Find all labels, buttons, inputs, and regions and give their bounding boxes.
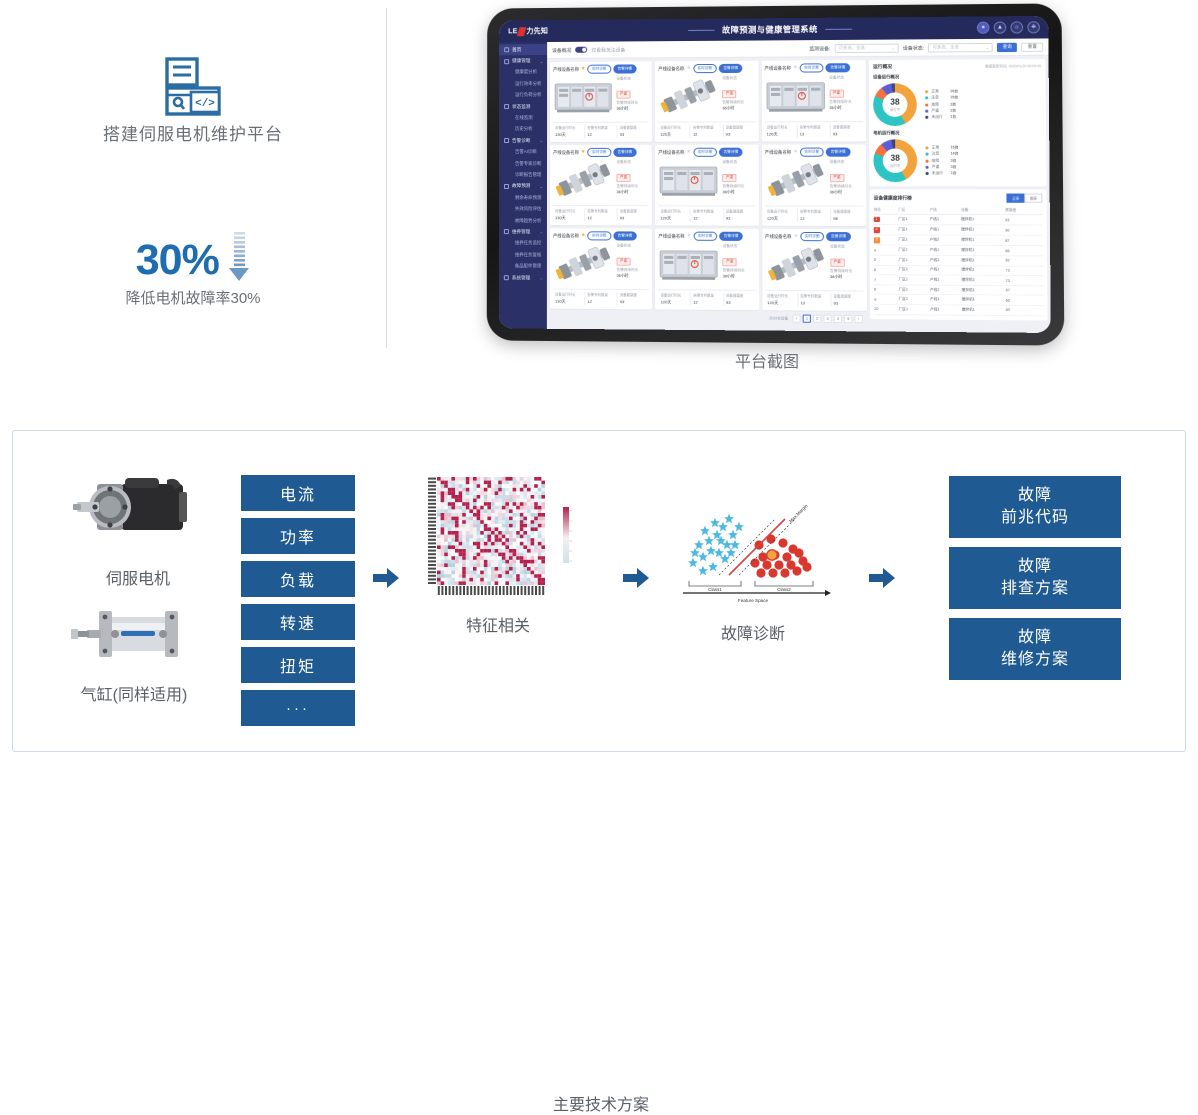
result-box-1[interactable]: 故障排查方案 <box>949 547 1121 609</box>
cell-line: 产线2 <box>930 235 962 245</box>
sidebar-item-label: 失效风险评估 <box>515 206 541 212</box>
sidebar-item-label: 剩余寿命预测 <box>515 195 541 201</box>
cell-score: 66 <box>1006 295 1043 305</box>
sidebar-item-17[interactable]: 维养任务监控 <box>499 238 547 250</box>
health-value: 93 <box>620 131 649 136</box>
legend-row-4: 未运行1台 <box>925 114 1041 119</box>
status-badge: 严重 <box>830 173 845 181</box>
sidebar-item-label: 首页 <box>512 47 521 53</box>
table-row[interactable]: 10厂区1产线1搅拌机160 <box>874 304 1043 315</box>
legend-value: 14台 <box>950 152 958 157</box>
card-body: 设备状态严重告警持续时长36小时 <box>553 242 649 287</box>
ranking-header: 设备健康度排行榜 正序 倒序 <box>874 193 1043 202</box>
star-icon[interactable]: ★ <box>794 234 799 239</box>
runtime-cell: 设备运行时长120天 <box>658 292 691 305</box>
runtime-cell: 设备运行时长120天 <box>765 293 798 306</box>
alarm-duration-label: 告警持续时长 <box>830 184 864 189</box>
cell-device: 搅拌机1 <box>961 215 1005 225</box>
device-card[interactable]: 产线设备名称★实时诊断告警详情设备状态严重告警持续时长36小时设备运行时长130… <box>550 145 652 226</box>
realtime-diagnose-button[interactable]: 实时诊断 <box>800 148 824 157</box>
sidebar-item-20[interactable]: 系统管理⌄ <box>499 272 547 284</box>
health-cell: 设备健康度93 <box>724 124 756 137</box>
parameter-box-1[interactable]: 功率 <box>241 518 355 554</box>
device-name: 产线设备名称 <box>765 233 792 239</box>
runtime-cell: 设备运行时长130天 <box>553 208 585 221</box>
health-cell: 设备健康度93 <box>831 293 863 306</box>
cell-area: 厂区1 <box>898 225 929 235</box>
cell-rank: 2 <box>874 225 899 235</box>
legend-label: 注意 <box>932 152 951 157</box>
diagnosis-caption: 故障诊断 <box>673 620 833 644</box>
cell-device: 搅拌机1 <box>962 295 1006 305</box>
query-button[interactable]: 查询 <box>997 42 1017 51</box>
sort-order-segmented[interactable]: 正序 倒序 <box>1007 194 1042 203</box>
cell-rank: 6 <box>874 265 899 275</box>
cell-device: 搅拌机1 <box>962 305 1006 315</box>
column-header-4: 健康度 <box>1005 206 1042 215</box>
result-line2: 维修方案 <box>1001 649 1069 671</box>
header-icon-group: ● ▲ ☼ ⎈ <box>977 21 1040 34</box>
cell-rank: 10 <box>874 304 899 314</box>
legend-dot <box>925 97 928 100</box>
status-badge: 严重 <box>616 257 630 265</box>
svm-classification-chart: Max.Margin Class1 Class2 Feature Space <box>673 501 833 609</box>
sidebar-item-label: 告警AI诊断 <box>515 149 537 155</box>
alarm-detail-button[interactable]: 告警详情 <box>826 148 850 157</box>
realtime-diagnose-button[interactable]: 实时诊断 <box>693 148 717 157</box>
legend-value: 15台 <box>950 146 958 151</box>
home-icon[interactable]: ▲ <box>994 21 1007 33</box>
cell-score: 90 <box>1005 225 1042 236</box>
cell-device: 搅拌机1 <box>961 225 1005 236</box>
legend-label: 正常 <box>931 89 950 94</box>
donut-chart: 38运行中 <box>873 83 917 126</box>
device-image <box>764 74 826 117</box>
sidebar-item-9[interactable]: 告警AI诊断 <box>499 146 547 157</box>
reset-button[interactable]: 重置 <box>1021 42 1043 51</box>
sidebar-item-4[interactable]: 运行负荷分析 <box>499 89 547 101</box>
user-icon[interactable]: ● <box>977 22 990 34</box>
chevron-down-icon: ⌄ <box>540 275 543 280</box>
device-status-block: 设备状态严重告警持续时长36小时 <box>719 159 755 204</box>
legend-label: 未运行 <box>931 114 950 119</box>
alarm-detail-button[interactable]: 告警详情 <box>826 63 850 72</box>
alarm-detail-button[interactable]: 告警详情 <box>613 231 637 240</box>
health-label: 设备健康度 <box>726 293 756 298</box>
device-status-select[interactable]: 可多选、全选 ⌄ <box>928 42 993 52</box>
device-card[interactable]: 产线设备名称★实时诊断告警详情设备状态严重告警持续时长36小时设备运行时长120… <box>762 144 867 226</box>
sidebar-item-label: 健康度分析 <box>515 69 537 75</box>
card-footer: 设备运行时长130天告警专利数量12设备健康度93 <box>553 122 649 138</box>
card-footer: 设备运行时长120天告警专利数量12设备健康度98 <box>765 205 863 221</box>
runtime-label: 设备运行时长 <box>767 124 797 129</box>
device-card[interactable]: 产线设备名称★实时诊断告警详情设备状态严重告警持续时长36小时设备运行时长120… <box>655 145 759 226</box>
watch-only-toggle[interactable] <box>575 47 587 53</box>
legend-row-1: 注意14台 <box>925 152 1042 157</box>
donut-legend: 正常15台注意14台故障3台严重3台未运行1台 <box>917 144 1042 176</box>
pagination-page-3[interactable]: 3 <box>823 315 831 323</box>
alarm-detail-button[interactable]: 告警详情 <box>826 232 850 241</box>
legend-value: 3台 <box>951 164 957 169</box>
sidebar-item-11[interactable]: 诊断报告管理 <box>499 169 547 180</box>
tech-solution-caption: 主要技术方案 <box>553 1091 649 1115</box>
alarm-duration-label: 告警持续时长 <box>829 100 862 105</box>
star-icon[interactable]: ★ <box>581 233 586 238</box>
sidebar-item-13[interactable]: 剩余寿命预测 <box>499 192 547 203</box>
table-row[interactable]: 1厂区1产线1搅拌机193 <box>874 215 1043 226</box>
alarm-detail-button[interactable]: 告警详情 <box>613 148 637 157</box>
alarm-detail-button[interactable]: 告警详情 <box>719 148 743 157</box>
health-value: 93 <box>833 131 863 136</box>
title-rule-right <box>825 28 852 29</box>
health-cell: 设备健康度93 <box>618 125 649 138</box>
cell-area: 厂区1 <box>899 305 931 315</box>
alarm-duration-value: 36小时 <box>723 274 756 279</box>
card-header: 产线设备名称★实时诊断告警详情 <box>765 148 863 157</box>
device-card[interactable]: 产线设备名称★实时诊断告警详情设备状态严重告警持续时长36小时设备运行时长130… <box>550 61 652 142</box>
sidebar-item-15[interactable]: 故障趋势分析 <box>499 215 547 227</box>
sort-asc-button[interactable]: 正序 <box>1007 194 1025 203</box>
card-body: 设备状态严重告警持续时长36小时 <box>765 159 864 204</box>
column-header-0: 排名 <box>874 206 899 215</box>
card-body: 设备状态严重告警持续时长36小时 <box>765 243 864 288</box>
sidebar-item-label: 维养管理 <box>512 229 530 235</box>
device-image <box>553 76 613 118</box>
alarm-count-label: 告警专利数量 <box>800 124 830 129</box>
cell-rank: 1 <box>874 215 899 225</box>
device-image <box>658 159 719 201</box>
legend-row-0: 正常15台 <box>925 146 1042 151</box>
donut-legend: 正常16台注意15台故障3台严重3台未运行1台 <box>917 88 1042 121</box>
monitor-icon <box>504 104 509 109</box>
pagination-info: 共39台设备 <box>769 316 788 321</box>
alarm-detail-button[interactable]: 告警详情 <box>719 232 743 241</box>
pagination[interactable]: 共39台设备‹12345› <box>550 309 867 324</box>
alarm-duration-label: 告警持续时长 <box>616 101 649 106</box>
legend-label: 严重 <box>932 164 951 169</box>
alarm-count-value: 12 <box>587 215 616 220</box>
arrow-right-icon-3 <box>869 567 895 589</box>
sidebar-item-14[interactable]: 失效风险评估 <box>499 203 547 215</box>
sidebar-item-6[interactable]: 在线监测 <box>499 112 547 124</box>
device-status-block: 设备状态严重告警持续时长36小时 <box>613 159 649 203</box>
star-icon[interactable]: ★ <box>581 150 586 155</box>
tablet-mockup: LE 力先知 故障预测与健康管理系统 ● ▲ ☼ ⎈ 首页健康管理⌄健康度分析运… <box>487 8 1047 340</box>
parameter-box-4[interactable]: 扭矩 <box>241 647 355 683</box>
health-label: 设备健康度 <box>726 124 756 129</box>
realtime-diagnose-button[interactable]: 实时诊断 <box>800 232 824 241</box>
device-name: 产线设备名称 <box>658 233 684 239</box>
servo-motor-image <box>69 466 199 556</box>
parameter-box-0[interactable]: 电流 <box>241 475 355 511</box>
star-icon[interactable]: ★ <box>581 67 586 72</box>
alarm-duration-value: 36小时 <box>722 106 755 111</box>
legend-dot <box>925 165 928 168</box>
rank-number: 9 <box>874 297 876 301</box>
cell-score: 86 <box>1005 246 1042 256</box>
result-line2: 前兆代码 <box>1001 507 1069 529</box>
legend-dot <box>925 159 928 162</box>
monitor-device-select[interactable]: 可多选、全选 ⌄ <box>834 43 898 53</box>
card-body: 设备状态严重告警持续时长36小时 <box>764 74 862 119</box>
legend-value: 3台 <box>950 102 956 107</box>
health-cell: 设备健康度98 <box>831 209 863 222</box>
device-status-block: 设备状态严重告警持续时长36小时 <box>613 75 649 119</box>
donut-value: 38 <box>890 98 899 107</box>
alarm-duration-value: 36小时 <box>830 275 864 280</box>
sidebar-item-label: 健康管理 <box>512 58 530 64</box>
runtime-value: 120天 <box>767 215 797 221</box>
sidebar-item-label: 维养任务监控 <box>515 240 541 246</box>
sidebar-item-label: 运行负荷分析 <box>515 92 541 98</box>
device-status-block: 设备状态严重告警持续时长36小时 <box>826 74 863 119</box>
health-label: 设备健康度 <box>833 209 863 214</box>
card-body: 设备状态严重告警持续时长36小时 <box>553 75 649 120</box>
result-box-2[interactable]: 故障维修方案 <box>949 618 1121 680</box>
realtime-diagnose-button[interactable]: 实时诊断 <box>800 63 824 72</box>
rank-number: 4 <box>874 248 876 252</box>
pagination-page-4[interactable]: 4 <box>834 315 842 323</box>
sidebar-item-19[interactable]: 备品配件管理 <box>499 261 547 273</box>
cell-area: 厂区1 <box>898 215 929 225</box>
alarm-duration-value: 36小时 <box>722 190 755 195</box>
sidebar-item-12[interactable]: 故障预测⌄ <box>499 181 547 192</box>
parameter-list: 电流功率负载转速扭矩··· <box>241 475 355 733</box>
feature-space-label: Feature Space <box>738 598 769 603</box>
health-label: 设备健康度 <box>620 125 649 130</box>
cell-line: 产线3 <box>930 255 962 265</box>
alarm-count-value: 12 <box>587 298 616 303</box>
runtime-label: 设备运行时长 <box>555 208 584 213</box>
health-label: 设备健康度 <box>726 208 756 213</box>
star-icon[interactable]: ★ <box>687 234 692 239</box>
runtime-cell: 设备运行时长120天 <box>765 124 798 137</box>
rank-number: 6 <box>874 268 876 272</box>
bell-icon[interactable]: ☼ <box>1010 21 1023 33</box>
donut-row: 38运行中正常16台注意15台故障3台严重3台未运行1台 <box>873 83 1042 127</box>
parameter-box-2[interactable]: 负载 <box>241 561 355 597</box>
sidebar-item-8[interactable]: 告警诊断⌄ <box>499 135 547 146</box>
column-header-3: 设备 <box>961 206 1005 215</box>
pagination-page-5[interactable]: 5 <box>844 315 852 323</box>
servo-motor-caption: 伺服电机 <box>58 565 218 589</box>
cell-line: 产线2 <box>930 285 962 295</box>
alarm-count-value: 12 <box>587 131 616 136</box>
sidebar-item-1[interactable]: 健康管理⌄ <box>499 55 547 67</box>
result-line1: 故障 <box>1018 627 1052 649</box>
legend-label: 严重 <box>931 108 950 113</box>
sidebar-item-18[interactable]: 维养任务复核 <box>499 249 547 261</box>
device-status-label: 设备状态: <box>903 44 924 51</box>
alarm-count-cell: 告警专利数量13 <box>798 293 831 306</box>
legend-label: 故障 <box>931 102 950 107</box>
sidebar-item-label: 故障预测 <box>512 183 530 189</box>
device-name: 产线设备名称 <box>764 65 790 71</box>
health-value: 93 <box>620 299 650 304</box>
alarm-count-value: 12 <box>693 131 723 136</box>
pagination-page-1[interactable]: 1 <box>803 315 811 323</box>
card-header: 产线设备名称★实时诊断告警详情 <box>764 63 862 73</box>
chevron-down-icon: ⌄ <box>540 184 543 189</box>
parameter-box-5[interactable]: ··· <box>241 690 355 726</box>
rank-badge: 2 <box>874 227 880 233</box>
cell-area: 厂区1 <box>898 255 929 265</box>
device-card[interactable]: 产线设备名称★实时诊断告警详情设备状态严重告警持续时长36小时设备运行时长130… <box>550 228 652 309</box>
realtime-diagnose-button[interactable]: 实时诊断 <box>587 148 611 157</box>
health-label: 设备健康度 <box>833 293 863 298</box>
cell-line: 产线1 <box>930 295 962 305</box>
realtime-diagnose-button[interactable]: 实时诊断 <box>693 232 717 241</box>
device-card[interactable]: 产线设备名称★实时诊断告警详情设备状态严重告警持续时长36小时设备运行时长120… <box>655 61 758 142</box>
donut-row: 38运行中正常15台注意14台故障3台严重3台未运行1台 <box>873 139 1042 182</box>
device-name: 产线设备名称 <box>658 149 684 155</box>
alarm-count-cell: 告警专利数量12 <box>585 292 617 305</box>
card-header: 产线设备名称★实时诊断告警详情 <box>765 232 864 241</box>
tech-solution-panel: 伺服电机 气缸(同样适用) 电流功率负载转速扭矩··· <box>12 430 1186 752</box>
cell-rank: 3 <box>874 235 899 245</box>
alarm-duration-value: 36小时 <box>830 190 864 195</box>
table-row[interactable]: 2厂区1产线1搅拌机190 <box>874 225 1043 236</box>
star-icon[interactable]: ★ <box>686 150 691 155</box>
sidebar-item-10[interactable]: 告警专家诊断 <box>499 158 547 169</box>
runtime-value: 120天 <box>660 131 690 137</box>
chevron-down-icon: ⌄ <box>891 45 895 50</box>
status-badge: 严重 <box>616 173 630 181</box>
cell-area: 厂区1 <box>898 235 929 245</box>
star-icon[interactable]: ★ <box>793 150 798 155</box>
legend-value: 15台 <box>950 96 958 101</box>
platform-code-window-icon: </> <box>155 57 231 119</box>
legend-value: 3台 <box>950 108 956 113</box>
alarm-count-cell: 告警专利数量12 <box>691 208 724 221</box>
toggle-label: 仅看我关注设备 <box>591 46 625 53</box>
device-card[interactable]: 产线设备名称★实时诊断告警详情设备状态严重告警持续时长36小时设备运行时长120… <box>761 60 866 142</box>
card-header: 产线设备名称★实时诊断告警详情 <box>553 64 649 74</box>
donut-label: 运行中 <box>890 107 900 112</box>
alarm-detail-button[interactable]: 告警详情 <box>613 64 637 73</box>
legend-dot <box>925 147 928 150</box>
device-status-block: 设备状态严重告警持续时长36小时 <box>720 243 756 288</box>
legend-row-3: 严重3台 <box>925 164 1042 169</box>
device-name: 产线设备名称 <box>553 66 579 72</box>
correlation-heatmap-block: 特征相关 <box>413 471 583 636</box>
power-icon[interactable]: ⎈ <box>1027 21 1040 33</box>
runtime-cell: 设备运行时长120天 <box>658 125 691 138</box>
table-body: 1厂区1产线1搅拌机1932厂区1产线1搅拌机1903厂区1产线2搅拌机1874… <box>874 215 1044 316</box>
star-icon[interactable]: ★ <box>686 66 691 71</box>
donut-title: 电机运行概况 <box>873 130 1042 136</box>
sidebar-item-2[interactable]: 健康度分析 <box>499 67 547 79</box>
sort-desc-button[interactable]: 倒序 <box>1025 194 1043 203</box>
sidebar-item-7[interactable]: 历史分析 <box>499 124 547 135</box>
card-body: 设备状态严重告警持续时长36小时 <box>658 75 755 120</box>
table-header-row: 排名厂区产线设备健康度 <box>874 206 1043 215</box>
legend-row-0: 正常16台 <box>925 89 1041 95</box>
device-image <box>765 243 827 286</box>
donut-title: 设备运行概况 <box>873 73 1041 80</box>
legend-value: 1台 <box>951 171 957 176</box>
card-footer: 设备运行时长130天告警专利数量12设备健康度93 <box>553 205 649 221</box>
class2-label: Class2 <box>777 587 791 592</box>
alarm-count-label: 告警专利数量 <box>800 293 830 298</box>
device-image <box>658 243 719 286</box>
runtime-label: 设备运行时长 <box>555 292 584 297</box>
sidebar-item-label: 故障趋势分析 <box>515 218 541 224</box>
runtime-cell: 设备运行时长130天 <box>553 125 585 138</box>
percentage-block: 30% <box>0 232 386 287</box>
parameter-box-3[interactable]: 转速 <box>241 604 355 640</box>
legend-row-2: 故障3台 <box>925 158 1042 163</box>
alarm-count-cell: 告警专利数量12 <box>585 208 617 221</box>
device-card[interactable]: 产线设备名称★实时诊断告警详情设备状态严重告警持续时长36小时设备运行时长120… <box>762 229 867 311</box>
pneumatic-cylinder-caption: 气缸(同样适用) <box>54 681 214 705</box>
sidebar-item-label: 在线监测 <box>515 115 533 121</box>
svm-diagram-block: Max.Margin Class1 Class2 Feature Space 故… <box>673 501 833 644</box>
device-card[interactable]: 产线设备名称★实时诊断告警详情设备状态严重告警持续时长36小时设备运行时长120… <box>655 228 759 310</box>
realtime-diagnose-button[interactable]: 实时诊断 <box>587 65 611 74</box>
cell-score: 82 <box>1005 256 1042 266</box>
health-label: 设备健康度 <box>833 124 863 129</box>
runtime-label: 设备运行时长 <box>767 209 797 214</box>
heart-icon <box>504 59 509 64</box>
sidebar-item-label: 运行效率分析 <box>515 81 541 87</box>
monitor-device-label: 监测设备: <box>809 45 830 52</box>
sidebar-item-3[interactable]: 运行效率分析 <box>499 78 547 90</box>
donut-center: 38运行中 <box>873 139 917 182</box>
pagination-page-2[interactable]: 2 <box>813 315 821 323</box>
sidebar-item-0[interactable]: 首页 <box>499 44 547 56</box>
table-row[interactable]: 3厂区1产线2搅拌机187 <box>874 235 1043 246</box>
health-cell: 设备健康度93 <box>724 208 756 221</box>
pagination-prev[interactable]: ‹ <box>792 314 800 322</box>
sidebar-item-label: 告警专家诊断 <box>515 161 541 167</box>
platform-caption: 搭建伺服电机维护平台 <box>0 120 386 145</box>
sidebar-item-16[interactable]: 维养管理⌄ <box>499 226 547 238</box>
alarm-detail-button[interactable]: 告警详情 <box>719 64 743 73</box>
app-sidebar[interactable]: 首页健康管理⌄健康度分析运行效率分析运行负荷分析状态监测在线监测历史分析告警诊断… <box>499 42 547 329</box>
rank-number: 8 <box>874 288 876 292</box>
runtime-value: 120天 <box>660 215 690 221</box>
legend-dot <box>925 153 928 156</box>
sidebar-item-5[interactable]: 状态监测 <box>499 101 547 113</box>
card-header: 产线设备名称★实时诊断告警详情 <box>658 148 755 157</box>
down-arrow-icon <box>228 232 250 287</box>
app-title-text: 故障预测与健康管理系统 <box>722 23 818 35</box>
health-cell: 设备健康度93 <box>724 293 756 306</box>
alarm-duration-label: 告警持续时长 <box>722 100 755 105</box>
health-ranking-panel: 设备健康度排行榜 正序 倒序 排名厂区产线设备健康度 1厂区1产线1搅拌机193… <box>869 189 1047 320</box>
legend-dot <box>925 109 928 112</box>
alarm-duration-label: 告警持续时长 <box>722 184 755 189</box>
health-cell: 设备健康度93 <box>831 124 863 137</box>
realtime-diagnose-button[interactable]: 实时诊断 <box>693 64 717 73</box>
runtime-cell: 设备运行时长120天 <box>658 208 691 221</box>
cell-area: 厂区1 <box>899 285 931 295</box>
pagination-next[interactable]: › <box>854 315 862 323</box>
realtime-diagnose-button[interactable]: 实时诊断 <box>587 231 611 240</box>
device-status-block: 设备状态严重告警持续时长36小时 <box>719 75 755 120</box>
result-line1: 故障 <box>1018 485 1052 507</box>
result-line2: 排查方案 <box>1001 578 1069 600</box>
health-value: 93 <box>726 299 756 304</box>
device-status-block: 设备状态严重告警持续时长36小时 <box>613 242 649 287</box>
sidebar-item-label: 诊断报告管理 <box>515 172 541 178</box>
star-icon[interactable]: ★ <box>793 66 798 71</box>
result-box-0[interactable]: 故障前兆代码 <box>949 476 1121 538</box>
alarm-duration-label: 告警持续时长 <box>723 268 756 273</box>
result-list: 故障前兆代码故障排查方案故障维修方案 <box>949 476 1121 689</box>
device-image <box>765 159 827 202</box>
